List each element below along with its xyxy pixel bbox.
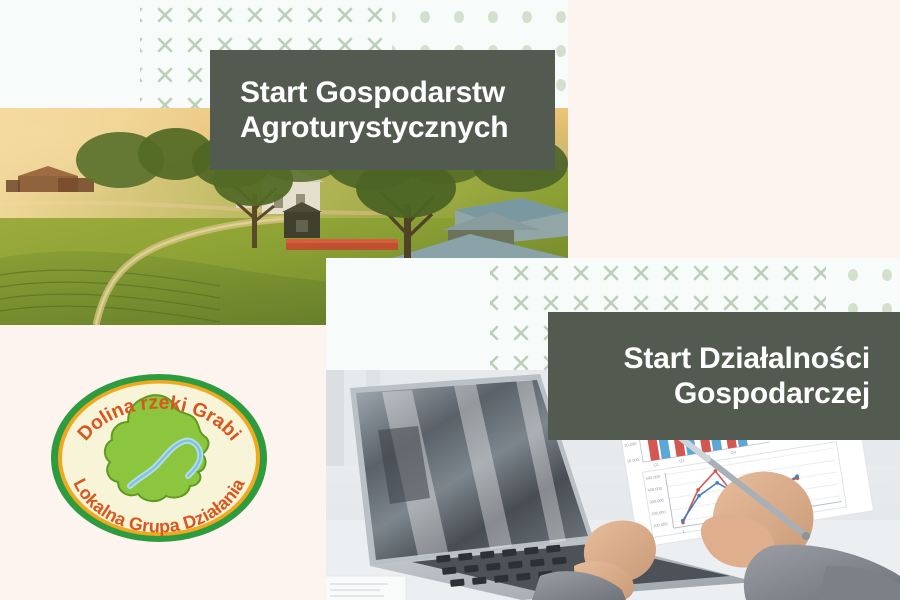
overlay-label-agrotourism-text: Start GospodarstwAgroturystycznych bbox=[240, 75, 508, 146]
overlay-label-business: Start DziałalnościGospodarczej bbox=[548, 312, 900, 440]
lgd-dolina-rzeki-grabi-logo[interactable]: Dolina rzeki Grabi Lokalna Grupa Działan… bbox=[48, 372, 270, 544]
overlay-label-business-text: Start DziałalnościGospodarczej bbox=[624, 341, 870, 412]
logo-emblem: Dolina rzeki Grabi Lokalna Grupa Działan… bbox=[48, 372, 270, 544]
overlay-label-agrotourism: Start GospodarstwAgroturystycznych bbox=[210, 50, 555, 170]
poster-canvas: Start GospodarstwAgroturystycznych bbox=[0, 0, 900, 600]
